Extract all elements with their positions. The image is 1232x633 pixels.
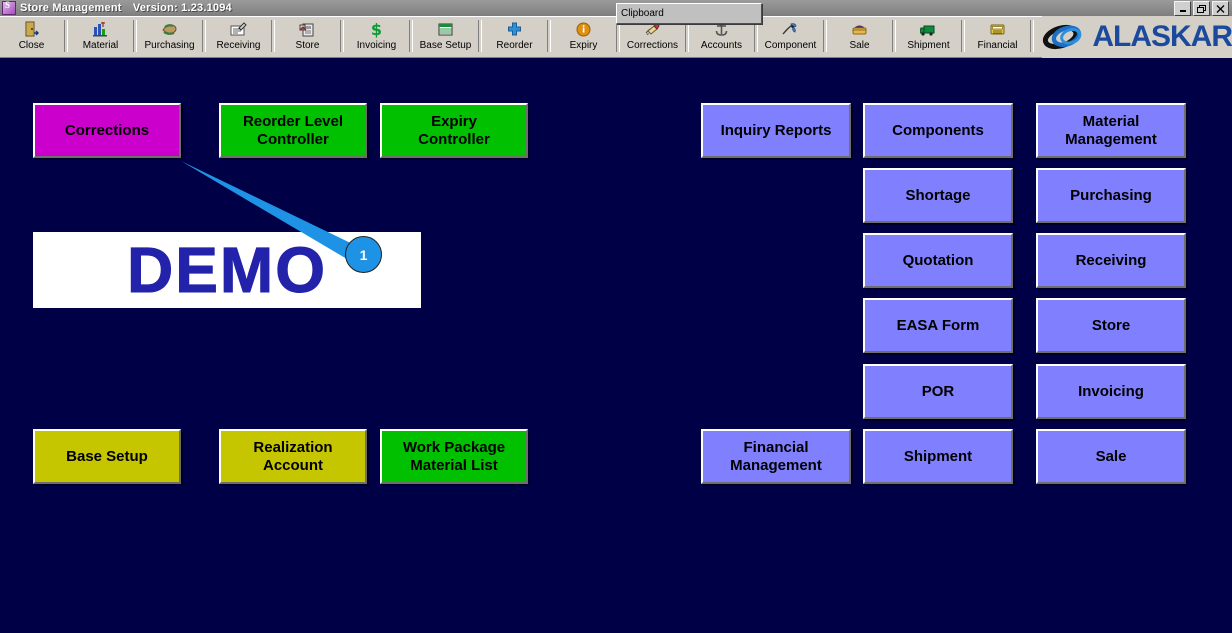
toolbar-separator (271, 20, 275, 52)
menu-button-inquiry-reports[interactable]: Inquiry Reports (701, 103, 851, 158)
propeller-icon (782, 20, 799, 38)
demo-watermark-text: DEMO (127, 238, 327, 302)
toolbar-button-receiving[interactable]: Receiving (207, 17, 270, 57)
toolbar-label: Expiry (570, 40, 598, 51)
toolbar-separator (409, 20, 413, 52)
toolbar-label: Component (765, 40, 817, 51)
menu-button-receiving[interactable]: Receiving (1036, 233, 1186, 288)
menu-button-base-setup[interactable]: Base Setup (33, 429, 181, 484)
material-chart-icon (92, 20, 109, 38)
menu-button-expiry-controller[interactable]: Expiry Controller (380, 103, 528, 158)
restore-icon[interactable] (1193, 1, 1210, 16)
menu-button-shortage[interactable]: Shortage (863, 168, 1013, 223)
application-window: Store Management Version: 1.23.1094 (0, 0, 1232, 633)
menu-button-por[interactable]: POR (863, 364, 1013, 419)
money-hand-icon (161, 20, 178, 38)
toolbar-button-component[interactable]: Component (759, 17, 822, 57)
store-app-icon (2, 1, 16, 15)
toolbar-button-store[interactable]: Store (276, 17, 339, 57)
dollar-icon: $ (368, 20, 385, 38)
menu-button-corrections[interactable]: Corrections (33, 103, 181, 158)
menu-button-reorder-level-controller[interactable]: Reorder Level Controller (219, 103, 367, 158)
window-title: Store Management Version: 1.23.1094 (20, 2, 232, 14)
toolbar-button-sale[interactable]: Sale (828, 17, 891, 57)
svg-text:$: $ (371, 21, 382, 38)
toolbar-button-expiry[interactable]: Expiry (552, 17, 615, 57)
clipboard-toolbar[interactable]: Clipboard (616, 3, 762, 24)
toolbar-separator (64, 20, 68, 52)
main-menu-area: Corrections Reorder Level Controller Exp… (0, 58, 1232, 633)
toolbar-button-purchasing[interactable]: Purchasing (138, 17, 201, 57)
toolbar-separator (685, 20, 689, 52)
toolbar-label: Receiving (217, 40, 261, 51)
toolbar-label: Close (19, 40, 45, 51)
annotation-step-number: 1 (360, 247, 368, 263)
toolbar-separator (133, 20, 137, 52)
menu-button-invoicing[interactable]: Invoicing (1036, 364, 1186, 419)
toolbar-label: Material (83, 40, 119, 51)
calculator-icon (989, 20, 1006, 38)
close-icon[interactable] (1212, 1, 1229, 16)
alaskar-swoosh-icon (1042, 17, 1092, 57)
toolbar-button-base-setup[interactable]: Base Setup (414, 17, 477, 57)
toolbar-label: Base Setup (420, 40, 472, 51)
toolbar-label: Sale (849, 40, 869, 51)
toolbar-separator (1030, 20, 1034, 52)
toolbar-button-material[interactable]: Material (69, 17, 132, 57)
menu-button-work-package-material-list[interactable]: Work Package Material List (380, 429, 528, 484)
toolbar-separator (823, 20, 827, 52)
menu-button-financial-management[interactable]: Financial Management (701, 429, 851, 484)
toolbar-button-financial[interactable]: Financial (966, 17, 1029, 57)
brand-logo: ALASKAR (1042, 16, 1232, 58)
toolbar-label: Corrections (627, 40, 678, 51)
toolbar-button-reorder[interactable]: Reorder (483, 17, 546, 57)
toolbar-button-invoicing[interactable]: $ Invoicing (345, 17, 408, 57)
toolbar-separator (754, 20, 758, 52)
menu-button-realization-account[interactable]: Realization Account (219, 429, 367, 484)
menu-button-sale[interactable]: Sale (1036, 429, 1186, 484)
toolbar-separator (202, 20, 206, 52)
plus-cross-icon (506, 20, 523, 38)
toolbar-separator (892, 20, 896, 52)
exit-door-icon (23, 20, 40, 38)
menu-button-quotation[interactable]: Quotation (863, 233, 1013, 288)
toolbar-button-shipment[interactable]: Shipment (897, 17, 960, 57)
menu-button-material-management[interactable]: Material Management (1036, 103, 1186, 158)
window-version-text: Version: 1.23.1094 (133, 2, 232, 14)
menu-button-purchasing[interactable]: Purchasing (1036, 168, 1186, 223)
toolbar-separator (478, 20, 482, 52)
toolbar-label: Financial (977, 40, 1017, 51)
toolbar-label: Store (296, 40, 320, 51)
window-title-text: Store Management (20, 2, 122, 14)
menu-button-shipment[interactable]: Shipment (863, 429, 1013, 484)
clipboard-title: Clipboard (617, 8, 664, 19)
toolbar-label: Purchasing (144, 40, 194, 51)
table-grid-icon (437, 20, 454, 38)
menu-button-store[interactable]: Store (1036, 298, 1186, 353)
window-controls (1174, 1, 1229, 16)
brand-logo-text: ALASKAR (1092, 22, 1232, 52)
toolbar-label: Accounts (701, 40, 742, 51)
toolbar-label: Reorder (496, 40, 532, 51)
toolbar-separator (961, 20, 965, 52)
toolbar-label: Invoicing (357, 40, 396, 51)
basket-icon (851, 20, 868, 38)
menu-button-easa-form[interactable]: EASA Form (863, 298, 1013, 353)
toolbar-separator (547, 20, 551, 52)
toolbar-label: Shipment (907, 40, 949, 51)
menu-button-components[interactable]: Components (863, 103, 1013, 158)
truck-icon (920, 20, 937, 38)
info-circle-icon (575, 20, 592, 38)
toolbar-separator (616, 20, 620, 52)
toolbar-separator (340, 20, 344, 52)
annotation-step-badge: 1 (345, 236, 382, 273)
toolbar-button-close[interactable]: Close (0, 17, 63, 57)
store-box-icon (299, 20, 316, 38)
receipt-pen-icon (230, 20, 247, 38)
minimize-icon[interactable] (1174, 1, 1191, 16)
